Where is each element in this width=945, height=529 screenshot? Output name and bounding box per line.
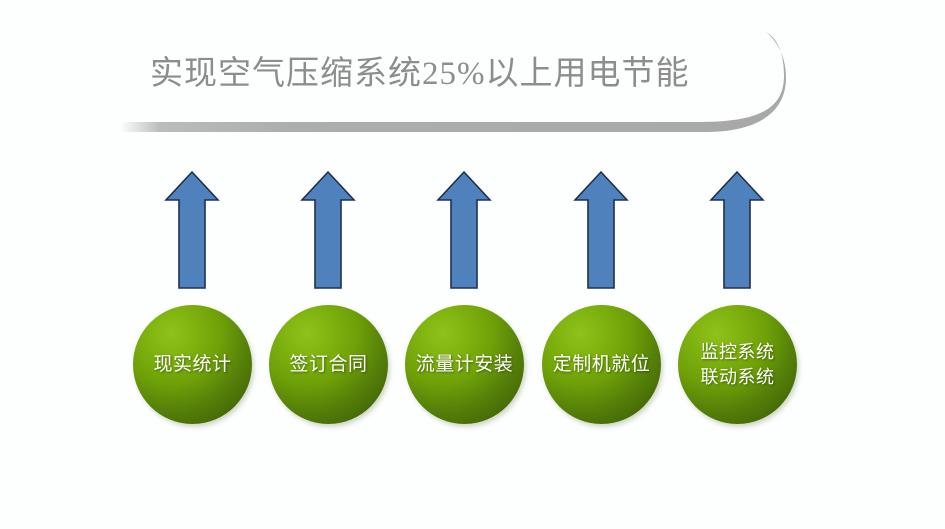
up-arrow-icon-5 [709, 170, 765, 290]
step-circle-label-2: 签订合同 [285, 353, 371, 377]
arrow-group [0, 0, 945, 529]
step-circle-label-4: 定制机就位 [549, 353, 655, 377]
step-circle-label-5: 监控系统 联动系统 [697, 340, 779, 390]
slide-canvas: 实现空气压缩系统25%以上用电节能 [0, 0, 945, 529]
up-arrow-icon-3 [436, 170, 492, 290]
step-circle-2[interactable]: 签订合同 [269, 305, 388, 424]
step-circle-5[interactable]: 监控系统 联动系统 [678, 305, 797, 424]
step-circle-1[interactable]: 现实统计 [133, 305, 252, 424]
up-arrow-icon-4 [573, 170, 629, 290]
up-arrow-icon-2 [300, 170, 356, 290]
step-circle-3[interactable]: 流量计安装 [405, 305, 524, 424]
step-circle-label-1: 现实统计 [149, 353, 235, 377]
step-circle-label-3: 流量计安装 [412, 353, 518, 377]
step-circle-4[interactable]: 定制机就位 [542, 305, 661, 424]
up-arrow-icon-1 [164, 170, 220, 290]
